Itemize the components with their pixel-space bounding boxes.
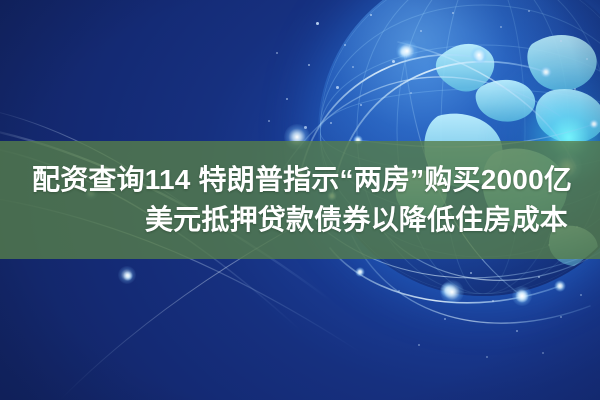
- headline-line-1: 配资查询114 特朗普指示“两房”购买2000亿: [18, 160, 582, 200]
- banner-image: 配资查询114 特朗普指示“两房”购买2000亿 美元抵押贷款债券以降低住房成本: [0, 0, 600, 400]
- headline-line-2: 美元抵押贷款债券以降低住房成本: [18, 200, 582, 240]
- headline-overlay-band: 配资查询114 特朗普指示“两房”购买2000亿 美元抵押贷款债券以降低住房成本: [0, 141, 600, 259]
